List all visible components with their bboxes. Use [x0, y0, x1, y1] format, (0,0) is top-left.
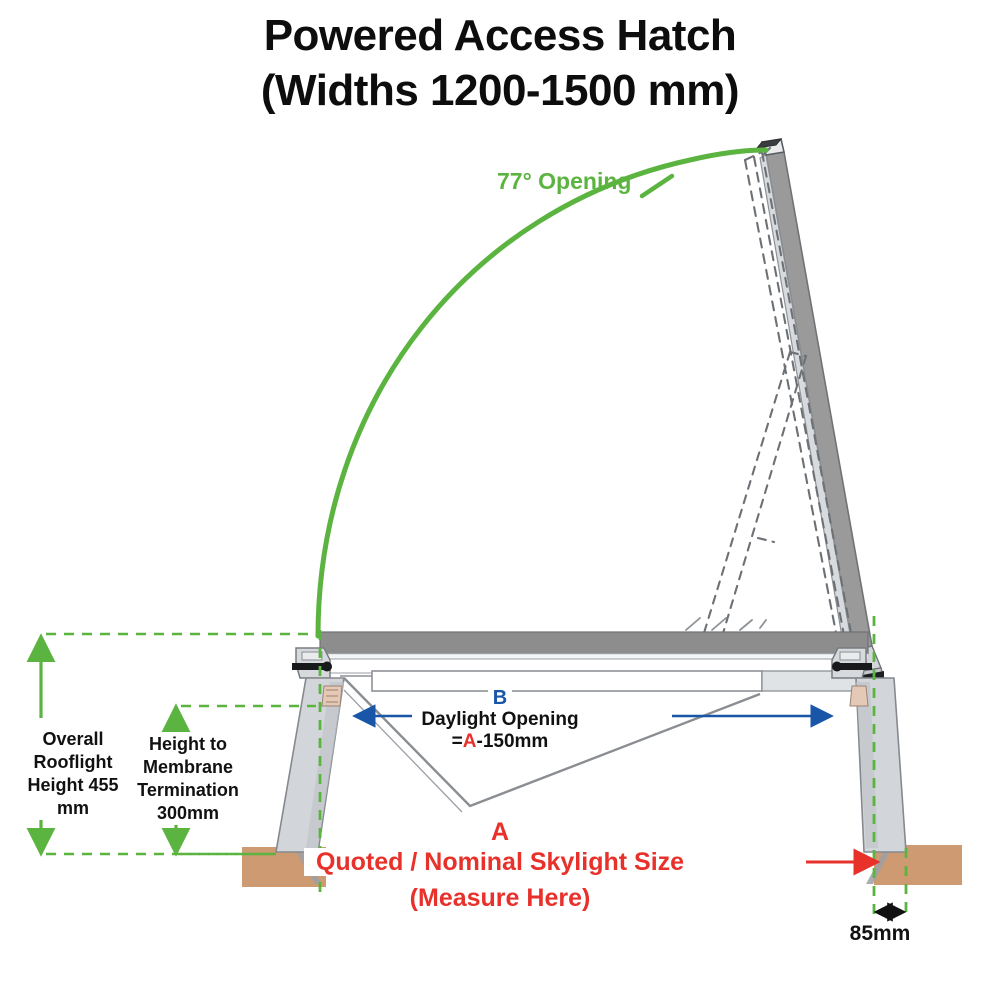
diagram-canvas: Powered Access Hatch (Widths 1200-1500 m…	[0, 0, 1000, 1000]
upstand-width-label: 85mm	[840, 922, 920, 946]
daylight-formula-letter: A	[463, 731, 477, 752]
daylight-letter-text: B	[488, 687, 512, 709]
opening-arc-leader	[642, 176, 672, 196]
daylight-formula-label: =A-150mm	[0, 731, 1000, 753]
skylight-size-label: Quoted / Nominal Skylight Size	[0, 848, 1000, 877]
actuator-ram-dashed	[676, 352, 806, 666]
open-lid-solid	[757, 139, 886, 702]
daylight-opening-text: Daylight Opening	[412, 709, 587, 730]
skylight-size-letter-text: A	[485, 818, 515, 846]
skylight-size-letter-label: A	[0, 818, 1000, 847]
measure-here-label: (Measure Here)	[0, 884, 1000, 913]
daylight-formula-prefix: =	[452, 731, 463, 752]
opening-angle-label: 77° Opening	[497, 168, 631, 195]
opening-arc-77deg	[318, 150, 766, 636]
glazing-panel	[320, 632, 868, 659]
daylight-formula-suffix: -150mm	[477, 731, 549, 752]
skylight-size-text: Quoted / Nominal Skylight Size	[304, 848, 696, 876]
daylight-letter-label: B	[0, 687, 1000, 710]
daylight-opening-label: Daylight Opening	[0, 709, 1000, 731]
